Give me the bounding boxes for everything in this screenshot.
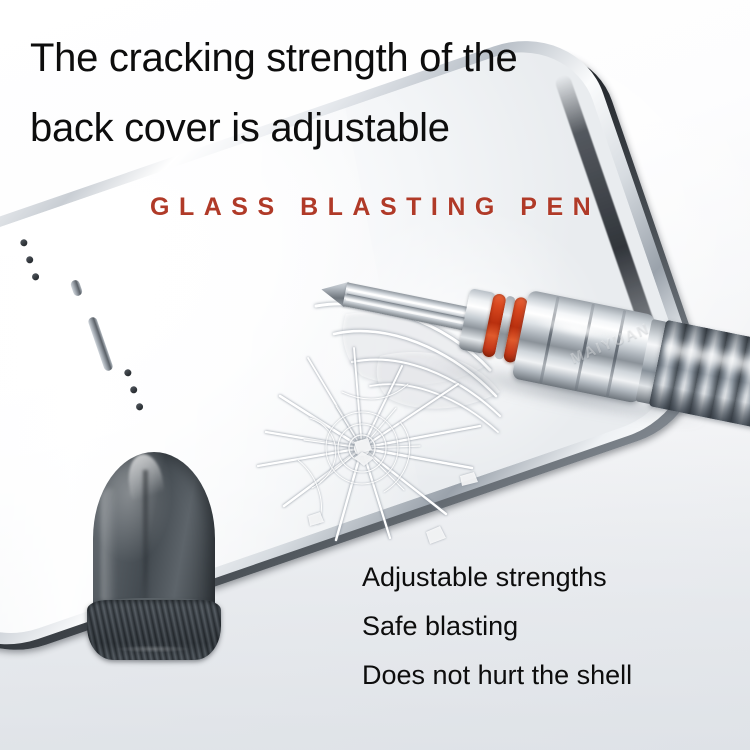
product-subtitle: GLASS BLASTING PEN xyxy=(150,193,600,222)
feature-item: Does not hurt the shell xyxy=(362,662,734,689)
cap-base-highlight xyxy=(99,644,207,654)
cap-left-highlight xyxy=(101,488,117,606)
feature-item: Adjustable strengths xyxy=(362,564,734,591)
headline-line-1: The cracking strength of the xyxy=(30,24,630,94)
protective-cap xyxy=(85,452,225,667)
headline-line-2: back cover is adjustable xyxy=(30,94,630,164)
headline: The cracking strength of the back cover … xyxy=(30,24,630,163)
feature-list: Adjustable strengths Safe blasting Does … xyxy=(362,564,734,689)
cap-crease-shadow xyxy=(143,470,148,616)
feature-item: Safe blasting xyxy=(362,613,734,640)
product-marketing-image: MAIYUAN The cracking strength of the bac… xyxy=(0,0,750,750)
